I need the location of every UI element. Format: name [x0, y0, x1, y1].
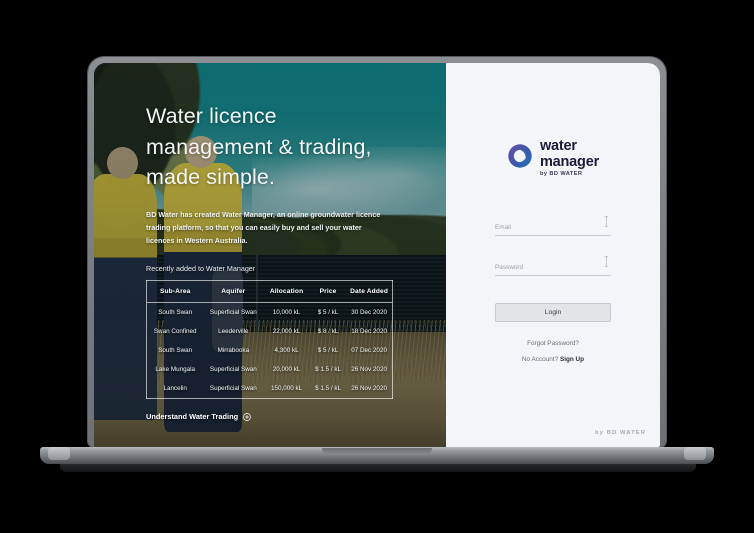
column-header-aquifer: Aquifer: [203, 281, 263, 303]
column-header-allocation: Allocation: [263, 281, 310, 303]
login-panel: water manager by BD WATER: [446, 63, 660, 447]
recent-licences-table: Sub-Area Aquifer Allocation Price Date A…: [146, 280, 393, 399]
cell-aquifer: Superficial Swan: [203, 360, 263, 379]
cell-date-added: 30 Dec 2020: [346, 303, 392, 323]
laptop-screen: Water licence management & trading, made…: [94, 63, 660, 447]
text-cursor-icon: [603, 214, 610, 232]
circle-plus-icon: [243, 413, 251, 421]
email-field-wrapper: [495, 216, 611, 236]
cell-date-added: 18 Dec 2020: [346, 322, 392, 341]
laptop-foot-right: [684, 447, 706, 460]
sign-up-link[interactable]: Sign Up: [560, 356, 584, 363]
cell-allocation: 20,000 kL: [263, 360, 310, 379]
cell-price: $ 5 / kL: [310, 341, 346, 360]
heading-line-1: Water licence: [146, 104, 277, 128]
understand-water-trading-label: Understand Water Trading: [146, 412, 238, 421]
no-account-label: No Account?: [522, 356, 560, 363]
cell-price: $ 8 / kL: [310, 322, 346, 341]
forgot-password-link[interactable]: Forgot Password?: [527, 340, 579, 347]
cell-price: $ 5 / kL: [310, 303, 346, 323]
sign-up-prompt[interactable]: No Account? Sign Up: [522, 356, 584, 363]
column-header-price: Price: [310, 281, 346, 303]
understand-water-trading-link[interactable]: Understand Water Trading: [146, 412, 424, 421]
hero-content: Water licence management & trading, made…: [94, 63, 446, 421]
brand-wordmark: water manager by BD WATER: [540, 139, 599, 178]
email-input[interactable]: [495, 224, 611, 236]
heading-line-3: made simple.: [146, 165, 275, 189]
screenshot-canvas: Water licence management & trading, made…: [0, 0, 754, 533]
cell-aquifer: Superficial Swan: [203, 379, 263, 399]
panel-footer-label: by BD WATER: [595, 430, 646, 436]
cell-allocation: 150,000 kL: [263, 379, 310, 399]
table-row[interactable]: South Swan Superficial Swan 10,000 kL $ …: [147, 303, 393, 323]
password-field-wrapper: [495, 256, 611, 276]
hero-description: BD Water has created Water Manager, an o…: [146, 208, 392, 248]
cell-price: $ 1.5 / kL: [310, 379, 346, 399]
text-cursor-icon: [603, 254, 610, 272]
hero-section: Water licence management & trading, made…: [94, 63, 446, 447]
cell-price: $ 1.5 / kL: [310, 360, 346, 379]
table-row[interactable]: South Swan Mirrabooka 4,300 kL $ 5 / kL …: [147, 341, 393, 360]
laptop-base-notch: [322, 448, 432, 455]
cell-allocation: 4,300 kL: [263, 341, 310, 360]
column-header-date-added: Date Added: [346, 281, 392, 303]
page-title: Water licence management & trading, made…: [146, 101, 424, 193]
cell-date-added: 26 Nov 2020: [346, 360, 392, 379]
cell-sub-area: South Swan: [147, 303, 204, 323]
password-input[interactable]: [495, 264, 611, 276]
laptop-foot-left: [48, 447, 70, 460]
table-row[interactable]: Lancelin Superficial Swan 150,000 kL $ 1…: [147, 379, 393, 399]
logo-tagline: by BD WATER: [540, 172, 599, 178]
logo-line-manager: manager: [540, 155, 599, 170]
laptop-base: [40, 447, 714, 464]
heading-line-2: management & trading,: [146, 135, 372, 159]
cell-aquifer: Leederville: [203, 322, 263, 341]
cell-aquifer: Mirrabooka: [203, 341, 263, 360]
cell-allocation: 22,000 kL: [263, 322, 310, 341]
cell-date-added: 26 Nov 2020: [346, 379, 392, 399]
column-header-sub-area: Sub-Area: [147, 281, 204, 303]
cell-sub-area: Lake Mungala: [147, 360, 204, 379]
cell-sub-area: Lancelin: [147, 379, 204, 399]
cell-allocation: 10,000 kL: [263, 303, 310, 323]
laptop-base-shadow: [60, 463, 696, 472]
cell-aquifer: Superficial Swan: [203, 303, 263, 323]
water-manager-swirl-icon: [507, 143, 533, 174]
login-button[interactable]: Login: [495, 303, 611, 322]
laptop-lid: Water licence management & trading, made…: [88, 57, 666, 447]
logo-line-water: water: [540, 139, 599, 154]
table-header-row: Sub-Area Aquifer Allocation Price Date A…: [147, 281, 393, 303]
table-row[interactable]: Swan Confined Leederville 22,000 kL $ 8 …: [147, 322, 393, 341]
table-row[interactable]: Lake Mungala Superficial Swan 20,000 kL …: [147, 360, 393, 379]
recently-added-label: Recently added to Water Manager: [146, 264, 424, 273]
brand-logo: water manager by BD WATER: [507, 139, 599, 178]
cell-date-added: 07 Dec 2020: [346, 341, 392, 360]
cell-sub-area: Swan Confined: [147, 322, 204, 341]
cell-sub-area: South Swan: [147, 341, 204, 360]
